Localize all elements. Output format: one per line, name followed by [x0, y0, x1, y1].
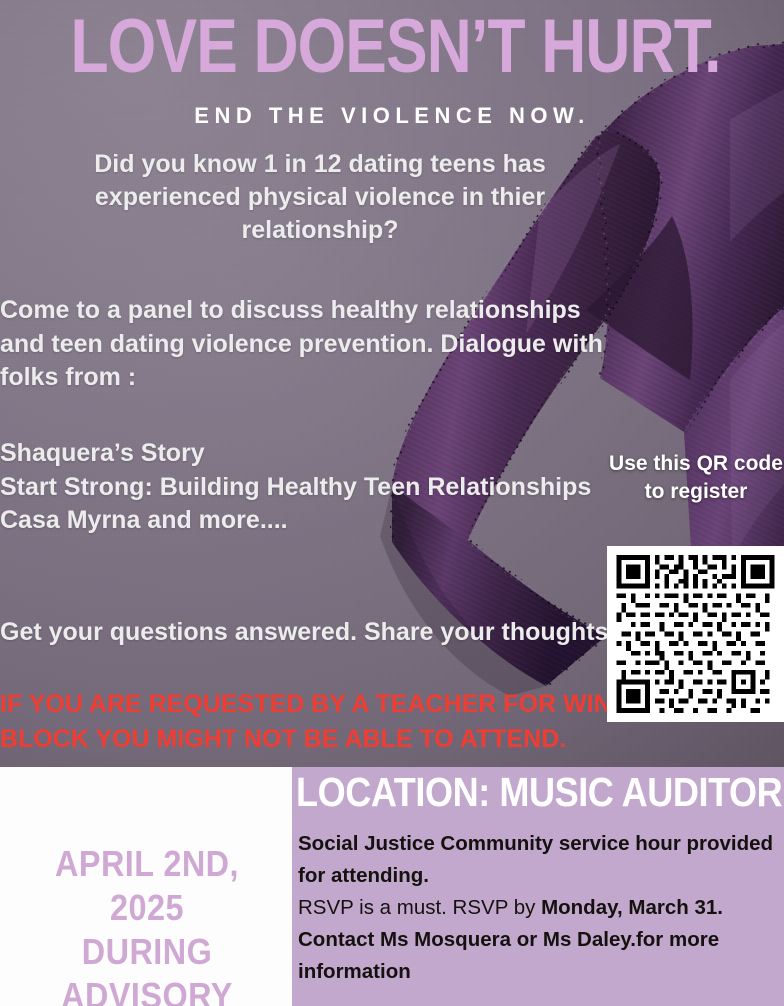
date-line-2: DURING: [22, 930, 272, 974]
attendance-warning-text: IF YOU ARE REQUESTED BY A TEACHER FOR WI…: [0, 687, 640, 756]
invitation-text: Come to a panel to discuss healthy relat…: [0, 294, 620, 395]
location-details: Social Justice Community service hour pr…: [298, 828, 784, 988]
poster-subheadline: END THE VIOLENCE NOW.: [0, 103, 784, 129]
rsvp-deadline: Monday, March 31.: [541, 896, 723, 919]
poster-headline: LOVE DOESN’T HURT.: [71, 12, 714, 82]
detail-rsvp: RSVP is a must. RSVP by Monday, March 31…: [298, 892, 784, 924]
qr-code[interactable]: [607, 546, 784, 722]
list-item: Shaquera’s Story: [0, 437, 620, 471]
list-item: Start Strong: Building Healthy Teen Rela…: [0, 471, 620, 505]
poster-canvas: LOVE DOESN’T HURT. END THE VIOLENCE NOW.…: [0, 0, 784, 1006]
rsvp-prefix: RSVP is a must. RSVP by: [298, 896, 541, 919]
detail-contact: Contact Ms Mosquera or Ms Daley.for more…: [298, 924, 784, 988]
qr-caption: Use this QR code to register: [608, 450, 784, 507]
organization-list: Shaquera’s Story Start Strong: Building …: [0, 437, 620, 538]
lead-statistic-text: Did you know 1 in 12 dating teens has ex…: [40, 148, 600, 247]
detail-service-hour: Social Justice Community service hour pr…: [298, 828, 784, 892]
event-date-text: APRIL 2ND, 2025 DURING ADVISORY PERIOD: [22, 842, 272, 1006]
location-title: LOCATION: MUSIC AUDITORIUM: [296, 772, 725, 813]
questions-invite-text: Get your questions answered. Share your …: [0, 616, 620, 650]
date-line-3: ADVISORY PERIOD: [22, 974, 272, 1006]
date-line-1: APRIL 2ND, 2025: [22, 842, 272, 930]
list-item: Casa Myrna and more....: [0, 504, 620, 538]
